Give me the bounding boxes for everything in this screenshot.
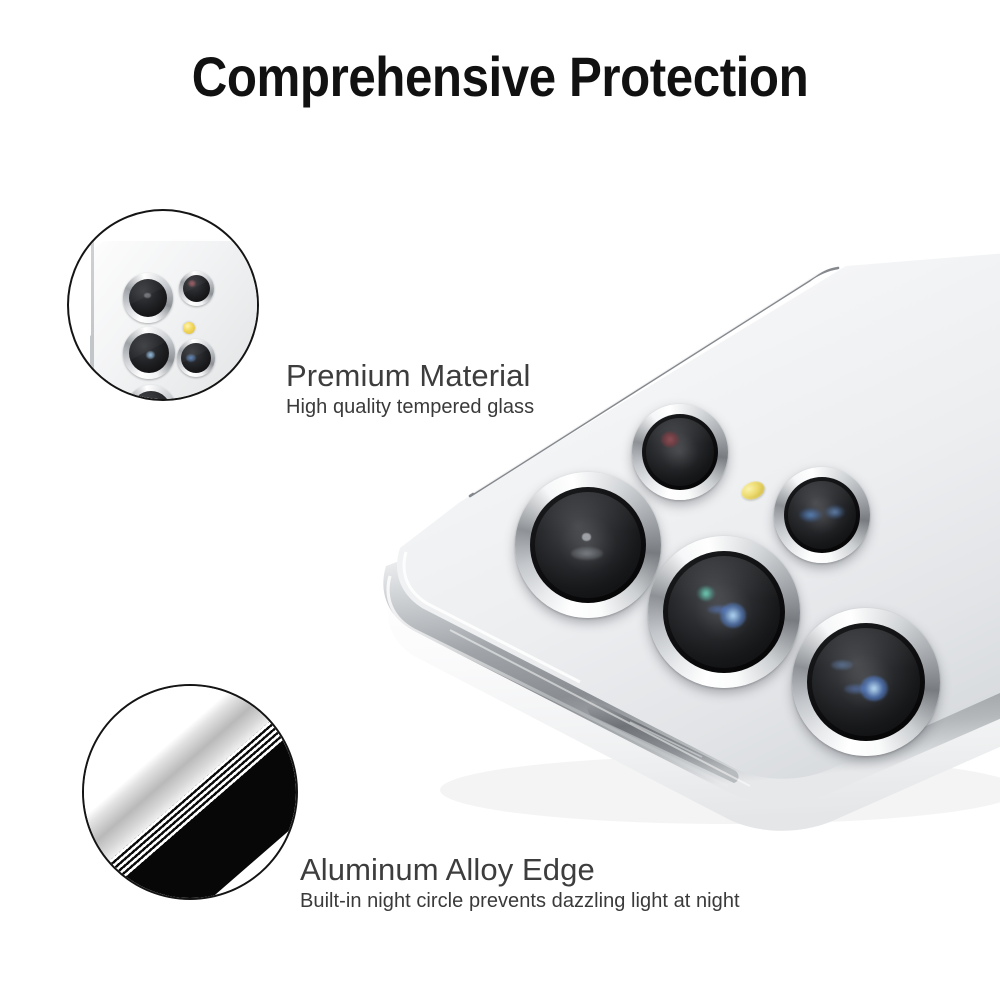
side-button-zoomed [90, 335, 94, 365]
zoom-lens-telephoto [179, 271, 214, 306]
callout-premium-material [67, 209, 259, 401]
zoomed-phone-back [91, 239, 257, 399]
product-infographic: Comprehensive Protection [0, 0, 1000, 1000]
lens-wide [515, 472, 661, 618]
lens-flare [661, 432, 679, 447]
zoom-flash-sensor [183, 322, 195, 334]
lens-ultrawide [648, 536, 800, 688]
lens-periscope [774, 467, 870, 563]
feature-subtitle: Built-in night circle prevents dazzling … [300, 888, 740, 914]
feature-title: Premium Material [286, 358, 534, 394]
lens-macro [792, 608, 940, 756]
lens-glass [788, 481, 856, 549]
lens-flare [825, 505, 845, 519]
lens-flare [697, 586, 715, 601]
feature-aluminum-alloy-edge: Aluminum Alloy Edge Built-in night circl… [300, 852, 740, 914]
lens-glass [668, 556, 780, 668]
feature-premium-material: Premium Material High quality tempered g… [286, 358, 534, 420]
callout-aluminum-alloy-edge [82, 684, 298, 900]
zoom-lens-periscope [177, 339, 215, 377]
lens-flare [707, 605, 729, 614]
lens-glass [646, 418, 714, 486]
zoom-lens-wide [123, 273, 173, 323]
page-title: Comprehensive Protection [60, 46, 940, 108]
zoom-lens-macro [125, 385, 177, 399]
lens-telephoto [632, 404, 728, 500]
lens-flare [582, 533, 592, 540]
feature-subtitle: High quality tempered glass [286, 394, 534, 420]
lens-glass [535, 492, 641, 598]
phone-product-render [330, 230, 1000, 870]
aluminum-edge-macro [84, 686, 296, 898]
zoom-lens-ultrawide [123, 327, 175, 379]
lens-flare [799, 508, 822, 522]
lens-glass [812, 628, 920, 736]
feature-title: Aluminum Alloy Edge [300, 852, 740, 888]
lens-flare [844, 684, 868, 694]
lens-flare [571, 547, 603, 560]
